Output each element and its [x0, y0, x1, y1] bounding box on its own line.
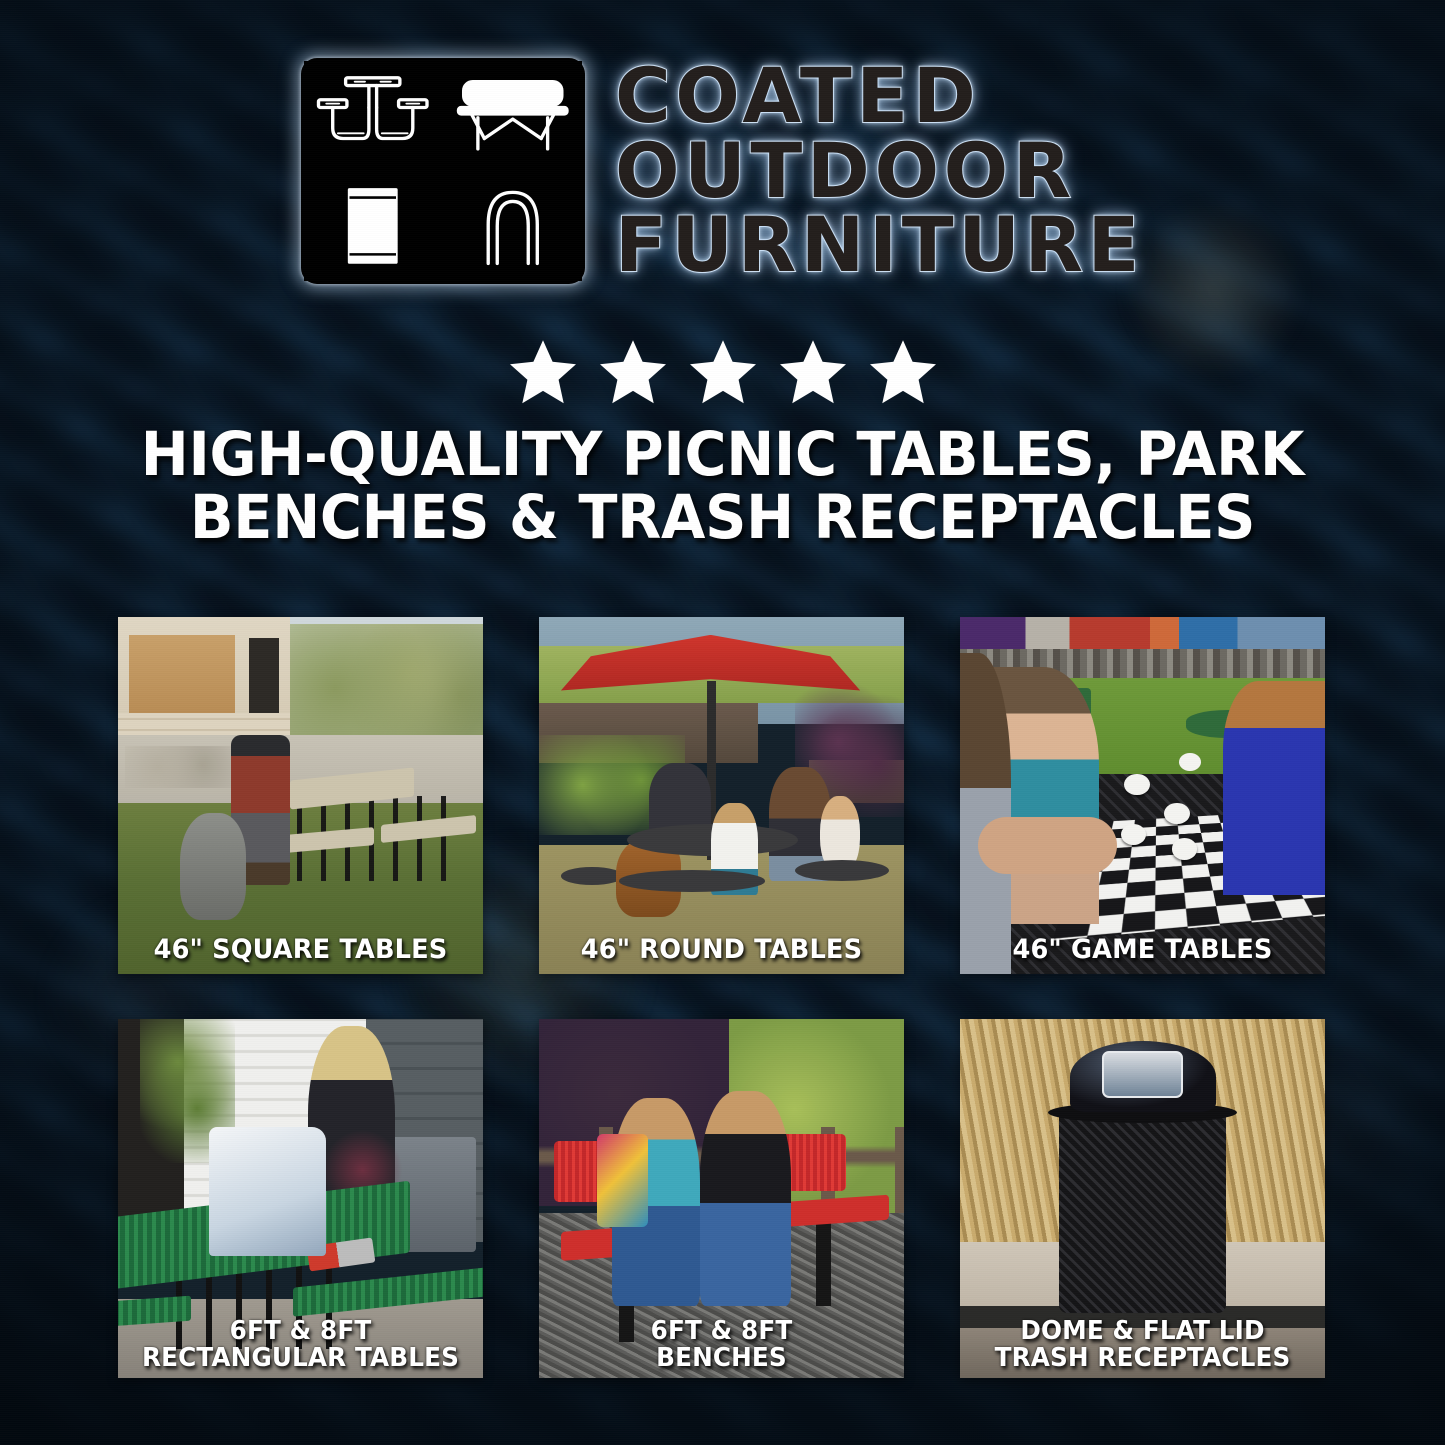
star-icon: [866, 336, 940, 408]
caption-line-2: BENCHES: [554, 1345, 889, 1372]
caption-line-1: DOME & FLAT LID: [975, 1318, 1310, 1345]
logo-mark: [301, 58, 585, 284]
product-tile-square-tables[interactable]: 46" SQUARE TABLES: [118, 617, 483, 974]
star-icon: [506, 336, 580, 408]
page-title: HIGH-QUALITY PICNIC TABLES, PARK BENCHES…: [100, 424, 1346, 550]
promo-graphic: COATED OUTDOOR FURNITURE HIGH-QUALITY PI…: [0, 0, 1445, 1445]
product-image: [960, 617, 1325, 974]
brand-name: COATED OUTDOOR FURNITURE: [615, 60, 1144, 283]
brand-header: COATED OUTDOOR FURNITURE: [0, 58, 1445, 284]
star-icon: [686, 336, 760, 408]
product-tile-game-tables[interactable]: 46" GAME TABLES: [960, 617, 1325, 974]
product-tile-benches[interactable]: 6FT & 8FT BENCHES: [539, 1019, 904, 1378]
headline-line-2: BENCHES & TRASH RECEPTACLES: [100, 487, 1346, 550]
star-icon: [596, 336, 670, 408]
bike-rack-icon: [444, 173, 582, 282]
product-tile-trash-receptacles[interactable]: DOME & FLAT LID TRASH RECEPTACLES: [960, 1019, 1325, 1378]
product-caption: 46" SQUARE TABLES: [133, 936, 468, 964]
product-tile-round-tables[interactable]: 46" ROUND TABLES: [539, 617, 904, 974]
product-caption: 46" ROUND TABLES: [554, 936, 889, 964]
brand-line-1: COATED: [615, 60, 1144, 133]
caption-line-1: 46" ROUND TABLES: [554, 936, 889, 964]
caption-line-1: 46" GAME TABLES: [975, 936, 1310, 964]
caption-line-1: 6FT & 8FT: [554, 1318, 889, 1345]
bench-icon: [444, 61, 582, 170]
product-image: [539, 617, 904, 974]
caption-line-1: 6FT & 8FT: [133, 1318, 468, 1345]
brand-line-3: FURNITURE: [615, 209, 1144, 282]
headline-line-1: HIGH-QUALITY PICNIC TABLES, PARK: [141, 419, 1304, 490]
caption-line-2: TRASH RECEPTACLES: [975, 1345, 1310, 1372]
product-tile-rectangular-tables[interactable]: 6FT & 8FT RECTANGULAR TABLES: [118, 1019, 483, 1378]
star-icon: [776, 336, 850, 408]
product-image: [118, 617, 483, 974]
trash-receptacle-icon: [304, 173, 442, 282]
picnic-table-icon: [304, 61, 442, 170]
product-caption: 6FT & 8FT BENCHES: [554, 1318, 889, 1372]
caption-line-2: RECTANGULAR TABLES: [133, 1345, 468, 1372]
product-grid: 46" SQUARE TABLES 46" ROUND TABLES: [118, 617, 1326, 1378]
product-caption: DOME & FLAT LID TRASH RECEPTACLES: [975, 1318, 1310, 1372]
rating-stars: [0, 336, 1445, 408]
caption-line-1: 46" SQUARE TABLES: [133, 936, 468, 964]
product-caption: 46" GAME TABLES: [975, 936, 1310, 964]
product-caption: 6FT & 8FT RECTANGULAR TABLES: [133, 1318, 468, 1372]
brand-line-2: OUTDOOR: [615, 135, 1144, 208]
